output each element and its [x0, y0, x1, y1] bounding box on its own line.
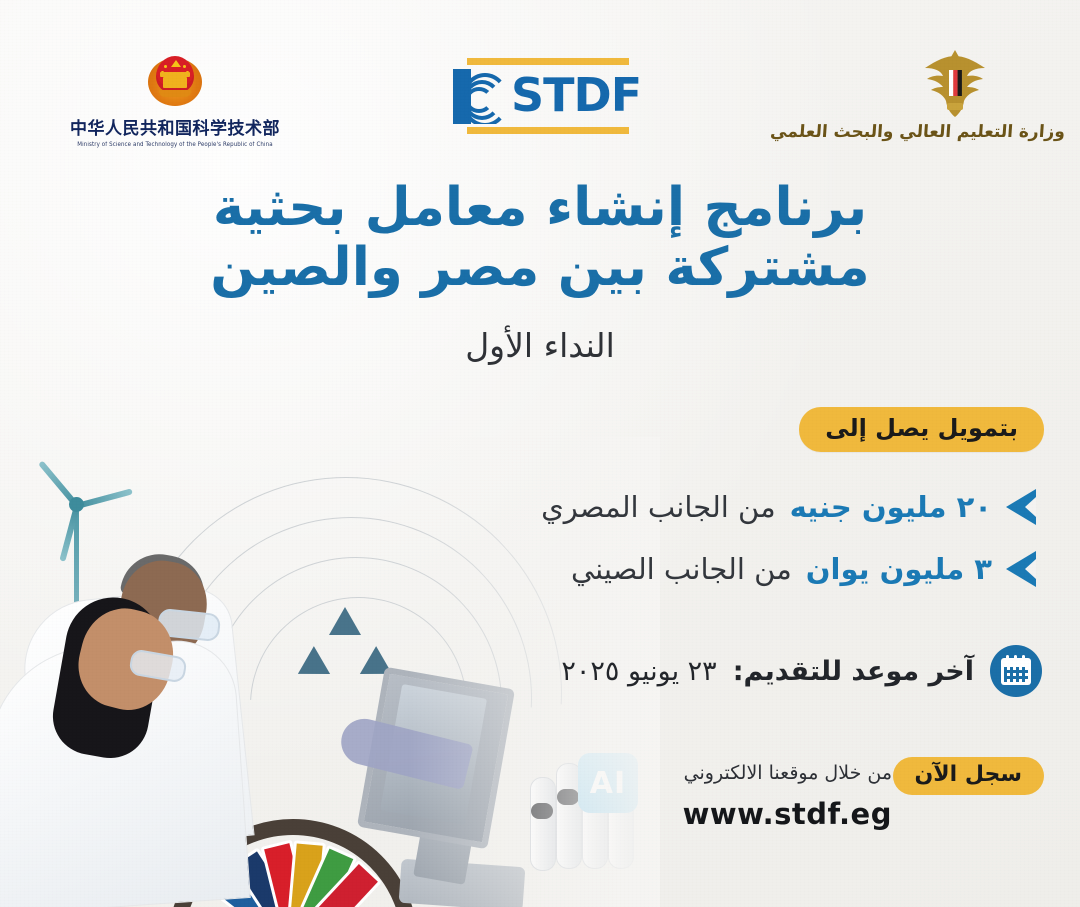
china-ministry-name-en: Ministry of Science and Technology of th… — [60, 142, 290, 149]
logo-row: 中华人民共和国科学技术部 Ministry of Science and Tec… — [0, 0, 1080, 160]
funding-amount: ٣ مليون يوان — [806, 552, 992, 586]
deadline-row: آخر موعد للتقديم: ٢٣ يونيو ٢٠٢٥ — [561, 645, 1042, 697]
china-national-emblem-icon — [145, 52, 205, 110]
stdf-mark-icon — [453, 69, 509, 124]
title-line-1: برنامج إنشاء معامل بحثية — [0, 178, 1080, 238]
scientists-photo — [0, 507, 320, 907]
egypt-eagle-emblem-icon — [913, 48, 997, 120]
page-subtitle: النداء الأول — [0, 326, 1080, 365]
funding-amount: ٢٠ مليون جنيه — [790, 490, 992, 524]
title-line-2: مشتركة بين مصر والصين — [0, 238, 1080, 298]
funding-item-egypt: ٢٠ مليون جنيه من الجانب المصري — [541, 489, 1036, 525]
page-title: برنامج إنشاء معامل بحثية مشتركة بين مصر … — [0, 178, 1080, 298]
robot-hand: AI — [520, 717, 660, 907]
funding-side: من الجانب الصيني — [571, 552, 792, 586]
deadline-label: آخر موعد للتقديم: — [733, 656, 974, 687]
calendar-icon — [990, 645, 1042, 697]
ai-cube-label: AI — [578, 753, 638, 813]
egypt-mohe-logo: وزارة التعليم العالي والبحث العلمي — [845, 48, 1065, 142]
china-most-logo: 中华人民共和国科学技术部 Ministry of Science and Tec… — [60, 52, 290, 148]
egypt-ministry-name-ar: وزارة التعليم العالي والبحث العلمي — [844, 122, 1065, 142]
arrow-left-icon — [1006, 489, 1036, 525]
register-note: من خلال موقعنا الالكتروني — [684, 762, 892, 784]
funding-item-china: ٣ مليون يوان من الجانب الصيني — [571, 551, 1036, 587]
funding-badge: بتمويل يصل إلى — [799, 407, 1044, 452]
stdf-logo: STDF — [446, 58, 636, 136]
china-ministry-name-cn: 中华人民共和国科学技术部 — [60, 114, 290, 139]
deadline-date: ٢٣ يونيو ٢٠٢٥ — [561, 656, 716, 687]
arrow-left-icon — [1006, 551, 1036, 587]
poster-canvas: AI 中华人民共和国科学技术部 Ministry of Science and … — [0, 0, 1080, 907]
stdf-wordmark: STDF — [511, 66, 641, 124]
register-now-badge[interactable]: سجل الآن — [893, 757, 1045, 795]
funding-side: من الجانب المصري — [541, 490, 776, 524]
website-url[interactable]: www.stdf.eg — [683, 797, 892, 831]
